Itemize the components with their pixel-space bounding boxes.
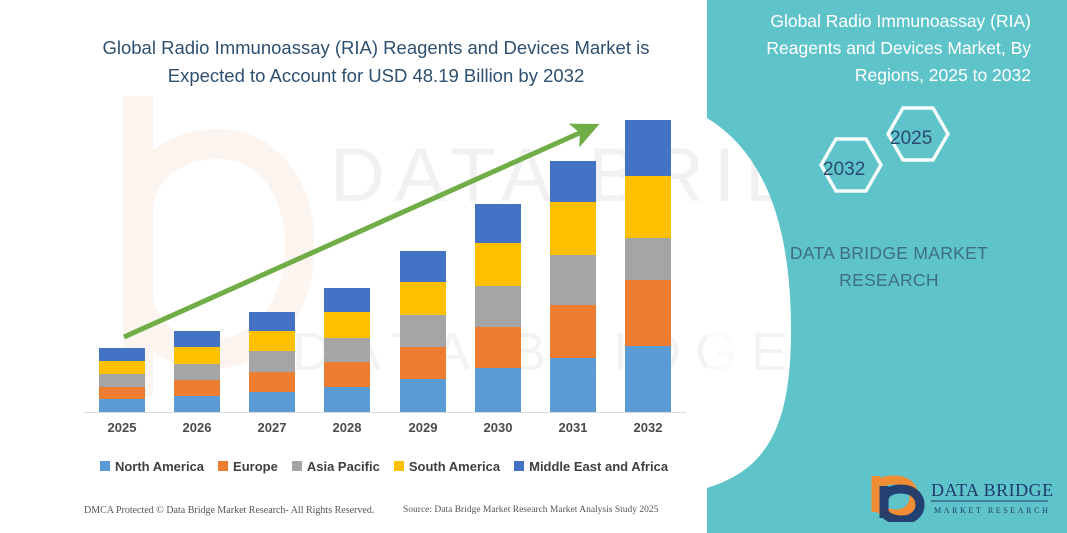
- footer-source: Source: Data Bridge Market Research Mark…: [403, 505, 658, 515]
- bar-group: [625, 120, 671, 412]
- bar-segment: [625, 238, 671, 280]
- legend-label: South America: [409, 459, 500, 474]
- bar-segment: [99, 348, 145, 361]
- x-axis-tick-label: 2027: [249, 420, 295, 435]
- page-title: Global Radio Immunoassay (RIA) Reagents …: [76, 34, 676, 90]
- chart-baseline: [84, 412, 686, 413]
- legend-item[interactable]: North America: [100, 459, 204, 474]
- bar-group: [249, 312, 295, 412]
- panel-brand-line2: RESEARCH: [839, 270, 939, 290]
- bar-segment: [99, 387, 145, 400]
- legend-swatch-icon: [394, 461, 404, 471]
- bar-segment: [475, 327, 521, 368]
- x-axis-tick-label: 2030: [475, 420, 521, 435]
- legend-item[interactable]: Europe: [218, 459, 278, 474]
- bar-segment: [99, 361, 145, 374]
- bar-segment: [475, 286, 521, 327]
- legend-label: Europe: [233, 459, 278, 474]
- bar-group: [99, 348, 145, 412]
- logo-title: DATA BRIDGE: [931, 480, 1053, 500]
- legend-label: North America: [115, 459, 204, 474]
- legend-label: Middle East and Africa: [529, 459, 668, 474]
- chart-x-axis: 20252026202720282029203020312032: [84, 420, 686, 444]
- bar-segment: [174, 364, 220, 380]
- bar-segment: [625, 176, 671, 238]
- bar-segment: [400, 347, 446, 379]
- chart-legend: North AmericaEuropeAsia PacificSouth Ame…: [84, 455, 684, 477]
- bar-segment: [625, 120, 671, 176]
- bar-segment: [99, 374, 145, 387]
- bar-segment: [324, 288, 370, 312]
- logo-subtitle: MARKET RESEARCH: [934, 506, 1050, 515]
- infographic-page: DATA BRIDGE DATA BRIDGE MARKET RESEARCH …: [0, 0, 1067, 533]
- bar-group: [324, 288, 370, 412]
- bar-segment: [625, 346, 671, 412]
- legend-swatch-icon: [100, 461, 110, 471]
- data-bridge-logo: DATA BRIDGE MARKET RESEARCH: [868, 472, 1053, 522]
- bar-segment: [550, 358, 596, 412]
- legend-swatch-icon: [218, 461, 228, 471]
- bar-group: [174, 331, 220, 412]
- bar-group: [550, 161, 596, 412]
- bar-segment: [99, 399, 145, 412]
- bar-segment: [174, 331, 220, 347]
- bar-segment: [324, 362, 370, 386]
- bar-segment: [475, 204, 521, 243]
- bar-segment: [550, 202, 596, 255]
- bar-segment: [324, 387, 370, 412]
- bar-segment: [174, 380, 220, 396]
- bar-segment: [475, 368, 521, 412]
- bar-segment: [550, 255, 596, 305]
- footer-copyright: DMCA Protected © Data Bridge Market Rese…: [84, 505, 374, 516]
- bar-segment: [324, 338, 370, 362]
- bar-segment: [475, 243, 521, 285]
- bar-group: [475, 204, 521, 412]
- panel-brand-name: DATA BRIDGE MARKET RESEARCH: [754, 240, 1024, 294]
- x-axis-tick-label: 2028: [324, 420, 370, 435]
- panel-brand-line1: DATA BRIDGE MARKET: [790, 243, 988, 263]
- x-axis-tick-label: 2032: [625, 420, 671, 435]
- bar-segment: [249, 331, 295, 351]
- bar-segment: [400, 315, 446, 347]
- right-panel: Global Radio Immunoassay (RIA) Reagents …: [707, 0, 1067, 533]
- legend-label: Asia Pacific: [307, 459, 380, 474]
- stacked-bar-chart: [84, 104, 684, 412]
- bar-segment: [550, 305, 596, 358]
- bar-segment: [174, 396, 220, 412]
- footer: DMCA Protected © Data Bridge Market Rese…: [0, 505, 730, 527]
- legend-swatch-icon: [292, 461, 302, 471]
- logo-mark-icon: [876, 476, 920, 520]
- bar-segment: [249, 312, 295, 331]
- x-axis-tick-label: 2025: [99, 420, 145, 435]
- x-axis-tick-label: 2031: [550, 420, 596, 435]
- panel-title: Global Radio Immunoassay (RIA) Reagents …: [741, 8, 1031, 89]
- legend-item[interactable]: Asia Pacific: [292, 459, 380, 474]
- bar-segment: [400, 282, 446, 315]
- bar-group: [400, 251, 446, 412]
- bar-segment: [324, 312, 370, 337]
- bar-segment: [550, 161, 596, 201]
- bar-segment: [400, 379, 446, 412]
- legend-item[interactable]: Middle East and Africa: [514, 459, 668, 474]
- bar-segment: [174, 347, 220, 364]
- bar-segment: [249, 351, 295, 371]
- legend-item[interactable]: South America: [394, 459, 500, 474]
- bar-segment: [625, 280, 671, 346]
- x-axis-tick-label: 2026: [174, 420, 220, 435]
- bar-segment: [249, 392, 295, 412]
- x-axis-tick-label: 2029: [400, 420, 446, 435]
- bar-segment: [400, 251, 446, 283]
- legend-swatch-icon: [514, 461, 524, 471]
- bar-segment: [249, 372, 295, 392]
